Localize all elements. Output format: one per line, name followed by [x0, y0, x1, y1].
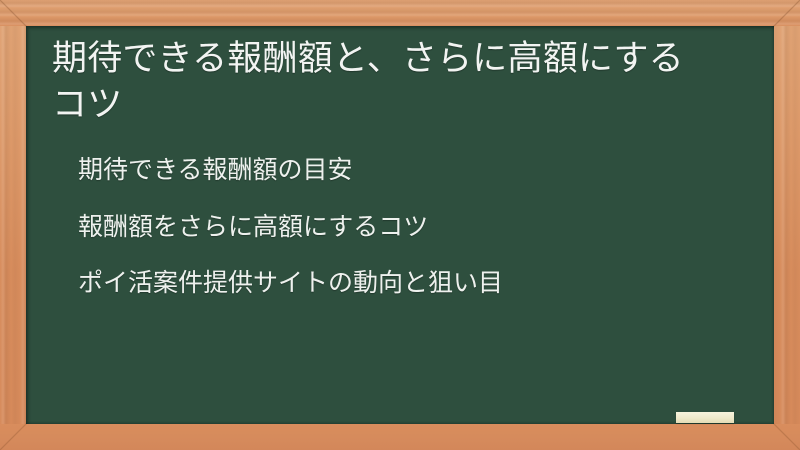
list-item: ポイ活案件提供サイトの動向と狙い目 [78, 268, 750, 299]
page-title: 期待できる報酬額と、さらに高額にするコツ [50, 36, 712, 127]
slide-content: 期待できる報酬額と、さらに高額にするコツ 期待できる報酬額の目安 報酬額をさらに… [26, 26, 774, 424]
outline-list: 期待できる報酬額の目安 報酬額をさらに高額にするコツ ポイ活案件提供サイトの動向… [50, 155, 750, 299]
chalkboard-surface: 期待できる報酬額と、さらに高額にするコツ 期待できる報酬額の目安 報酬額をさらに… [26, 26, 774, 424]
frame-rail-bottom [0, 424, 800, 450]
chalk-stick-icon [676, 412, 734, 423]
list-item: 期待できる報酬額の目安 [78, 155, 750, 186]
frame-rail-top [0, 0, 800, 26]
list-item: 報酬額をさらに高額にするコツ [78, 212, 750, 243]
chalkboard-frame: 期待できる報酬額と、さらに高額にするコツ 期待できる報酬額の目安 報酬額をさらに… [0, 0, 800, 450]
